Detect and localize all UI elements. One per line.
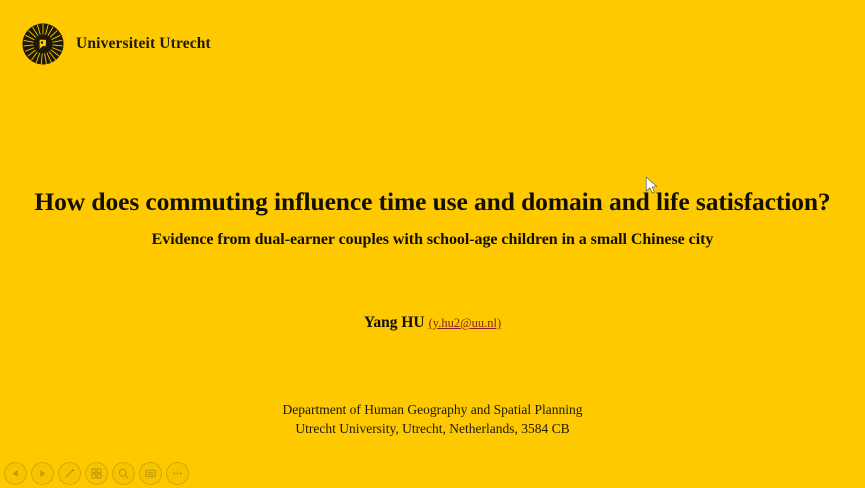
triangle-left-icon: [10, 468, 21, 479]
ellipsis-icon: [171, 467, 184, 480]
magnifier-icon: [117, 467, 130, 480]
previous-slide-button[interactable]: [4, 462, 27, 485]
triangle-right-icon: [37, 468, 48, 479]
slide-overview-button[interactable]: [85, 462, 108, 485]
affiliation-address: Utrecht University, Utrecht, Netherlands…: [0, 420, 865, 439]
zoom-button[interactable]: [112, 462, 135, 485]
author-name: Yang HU: [364, 314, 425, 331]
pen-icon: [63, 467, 76, 480]
presenter-view-button[interactable]: [139, 462, 162, 485]
screen-icon: [144, 467, 157, 480]
presentation-slide: Universiteit Utrecht How does commuting …: [0, 0, 865, 488]
university-logo: Universiteit Utrecht: [22, 23, 211, 65]
author-email-link[interactable]: (y.hu2@uu.nl): [429, 316, 502, 330]
next-slide-button[interactable]: [31, 462, 54, 485]
author-block: Yang HU(y.hu2@uu.nl): [0, 314, 865, 332]
pen-tool-button[interactable]: [58, 462, 81, 485]
slide-title: How does commuting influence time use an…: [0, 188, 865, 216]
more-options-button[interactable]: [166, 462, 189, 485]
affiliation-block: Department of Human Geography and Spatia…: [0, 401, 865, 438]
university-logo-text: Universiteit Utrecht: [76, 35, 211, 53]
utrecht-university-sunburst-icon: [22, 23, 64, 65]
grid-slides-icon: [90, 467, 103, 480]
affiliation-department: Department of Human Geography and Spatia…: [0, 401, 865, 420]
presentation-toolbar: [4, 462, 189, 485]
slide-subtitle: Evidence from dual-earner couples with s…: [0, 231, 865, 249]
